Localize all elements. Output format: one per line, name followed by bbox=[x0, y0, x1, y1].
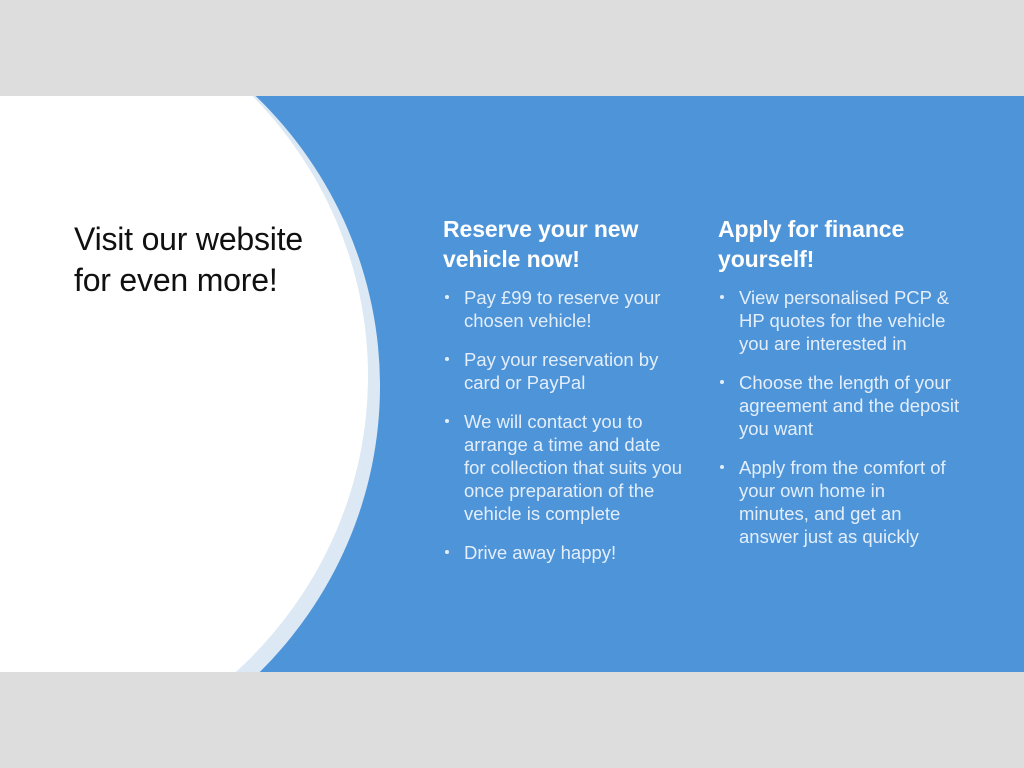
list-item: Drive away happy! bbox=[443, 541, 685, 564]
bullet-dot-icon bbox=[445, 357, 449, 361]
bullet-dot-icon bbox=[445, 419, 449, 423]
column-heading-reserve: Reserve your new vehicle now! bbox=[443, 214, 685, 274]
bullet-dot-icon bbox=[720, 465, 724, 469]
list-item-text: We will contact you to arrange a time an… bbox=[464, 411, 682, 524]
column-reserve-vehicle: Reserve your new vehicle now! Pay £99 to… bbox=[443, 214, 685, 564]
content-columns: Reserve your new vehicle now! Pay £99 to… bbox=[443, 214, 983, 564]
list-item-text: Pay your reservation by card or PayPal bbox=[464, 349, 658, 393]
slide-canvas: Visit our website for even more! Reserve… bbox=[0, 96, 1024, 672]
list-item: Pay your reservation by card or PayPal bbox=[443, 348, 685, 394]
slide-root: Visit our website for even more! Reserve… bbox=[0, 0, 1024, 768]
column-apply-finance: Apply for finance yourself! View persona… bbox=[718, 214, 960, 564]
left-headline: Visit our website for even more! bbox=[74, 219, 324, 301]
list-item-text: Choose the length of your agreement and … bbox=[739, 372, 959, 439]
list-item: View personalised PCP & HP quotes for th… bbox=[718, 286, 960, 355]
list-item: Pay £99 to reserve your chosen vehicle! bbox=[443, 286, 685, 332]
list-item: We will contact you to arrange a time an… bbox=[443, 410, 685, 525]
bullet-dot-icon bbox=[720, 380, 724, 384]
list-item-text: Apply from the comfort of your own home … bbox=[739, 457, 946, 547]
column-heading-finance: Apply for finance yourself! bbox=[718, 214, 960, 274]
bullet-dot-icon bbox=[720, 295, 724, 299]
bullet-dot-icon bbox=[445, 295, 449, 299]
list-item-text: View personalised PCP & HP quotes for th… bbox=[739, 287, 949, 354]
bullet-dot-icon bbox=[445, 550, 449, 554]
letterbox-bar-top bbox=[0, 0, 1024, 96]
letterbox-bar-bottom bbox=[0, 672, 1024, 768]
bullet-list-reserve: Pay £99 to reserve your chosen vehicle! … bbox=[443, 286, 685, 564]
list-item: Apply from the comfort of your own home … bbox=[718, 456, 960, 548]
bullet-list-finance: View personalised PCP & HP quotes for th… bbox=[718, 286, 960, 548]
list-item-text: Drive away happy! bbox=[464, 542, 616, 563]
list-item: Choose the length of your agreement and … bbox=[718, 371, 960, 440]
list-item-text: Pay £99 to reserve your chosen vehicle! bbox=[464, 287, 660, 331]
